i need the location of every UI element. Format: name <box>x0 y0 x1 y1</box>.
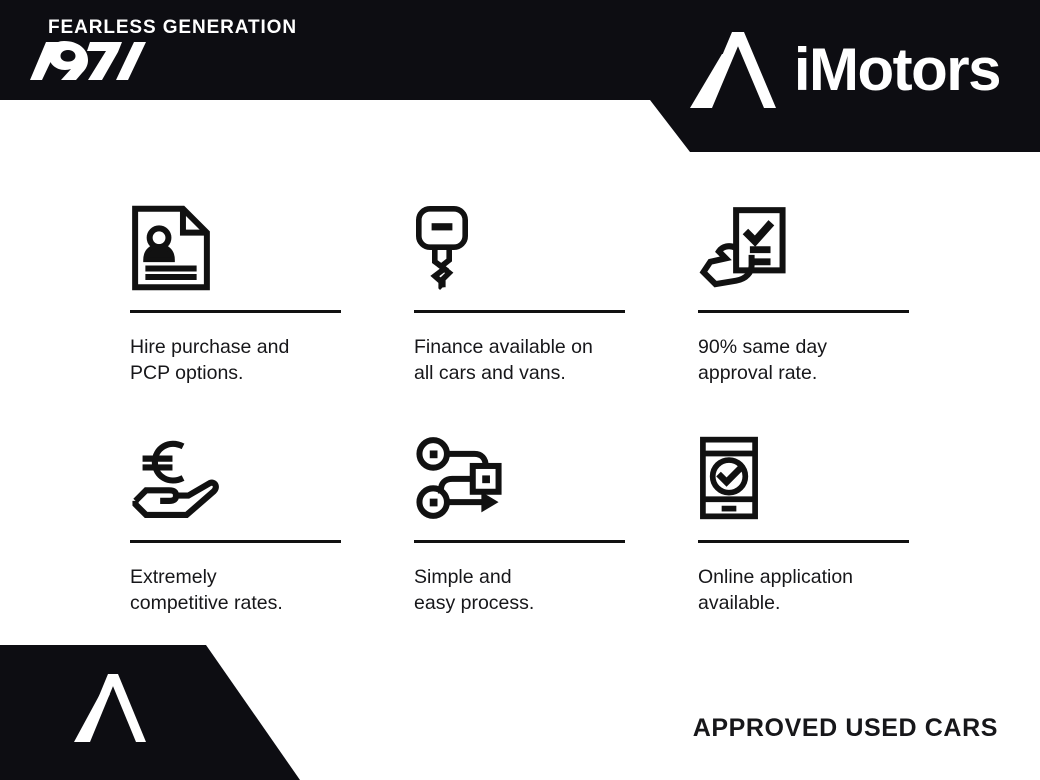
car-key-icon <box>414 192 625 304</box>
feature-caption: Online application available. <box>698 565 909 617</box>
feature-card-finance-available: Finance available on all cars and vans. <box>414 192 625 387</box>
feature-card-hire-purchase: Hire purchase and PCP options. <box>130 192 341 387</box>
brand-lockup: iMotors <box>688 24 1000 116</box>
divider-rule <box>130 540 341 543</box>
footer-banner <box>0 645 300 780</box>
process-flow-icon <box>414 422 625 534</box>
feature-caption: Extremely competitive rates. <box>130 565 341 617</box>
feature-row-1: Hire purchase and PCP options. Finance a… <box>130 192 910 387</box>
feature-caption: 90% same day approval rate. <box>698 335 909 387</box>
feature-card-online-application: Online application available. <box>698 422 909 617</box>
feature-row-2: Extremely competitive rates. <box>130 422 910 617</box>
footer-headline: APPROVED USED CARS <box>693 714 998 743</box>
feature-grid: Hire purchase and PCP options. Finance a… <box>130 192 910 617</box>
divider-rule <box>130 310 341 313</box>
brand-name: iMotors <box>794 40 1000 100</box>
cv-document-icon <box>130 192 341 304</box>
euro-in-hand-icon <box>130 422 341 534</box>
mobile-approved-icon <box>698 422 909 534</box>
promo-graphic: FEARLESS GENERATION iMotors <box>0 0 1040 780</box>
divider-rule <box>414 310 625 313</box>
imotors-chevron-logo-icon-footer <box>72 668 148 756</box>
feature-caption: Simple and easy process. <box>414 565 625 617</box>
imotors-chevron-logo-icon <box>688 24 780 116</box>
tagline: FEARLESS GENERATION <box>48 18 297 37</box>
divider-rule <box>414 540 625 543</box>
feature-card-same-day-approval: 90% same day approval rate. <box>698 192 909 387</box>
divider-rule <box>698 310 909 313</box>
year-1971-logotype <box>30 38 146 84</box>
feature-card-competitive-rates: Extremely competitive rates. <box>130 422 341 617</box>
feature-caption: Finance available on all cars and vans. <box>414 335 625 387</box>
divider-rule <box>698 540 909 543</box>
hand-holding-checklist-icon <box>698 192 909 304</box>
feature-card-easy-process: Simple and easy process. <box>414 422 625 617</box>
feature-caption: Hire purchase and PCP options. <box>130 335 341 387</box>
